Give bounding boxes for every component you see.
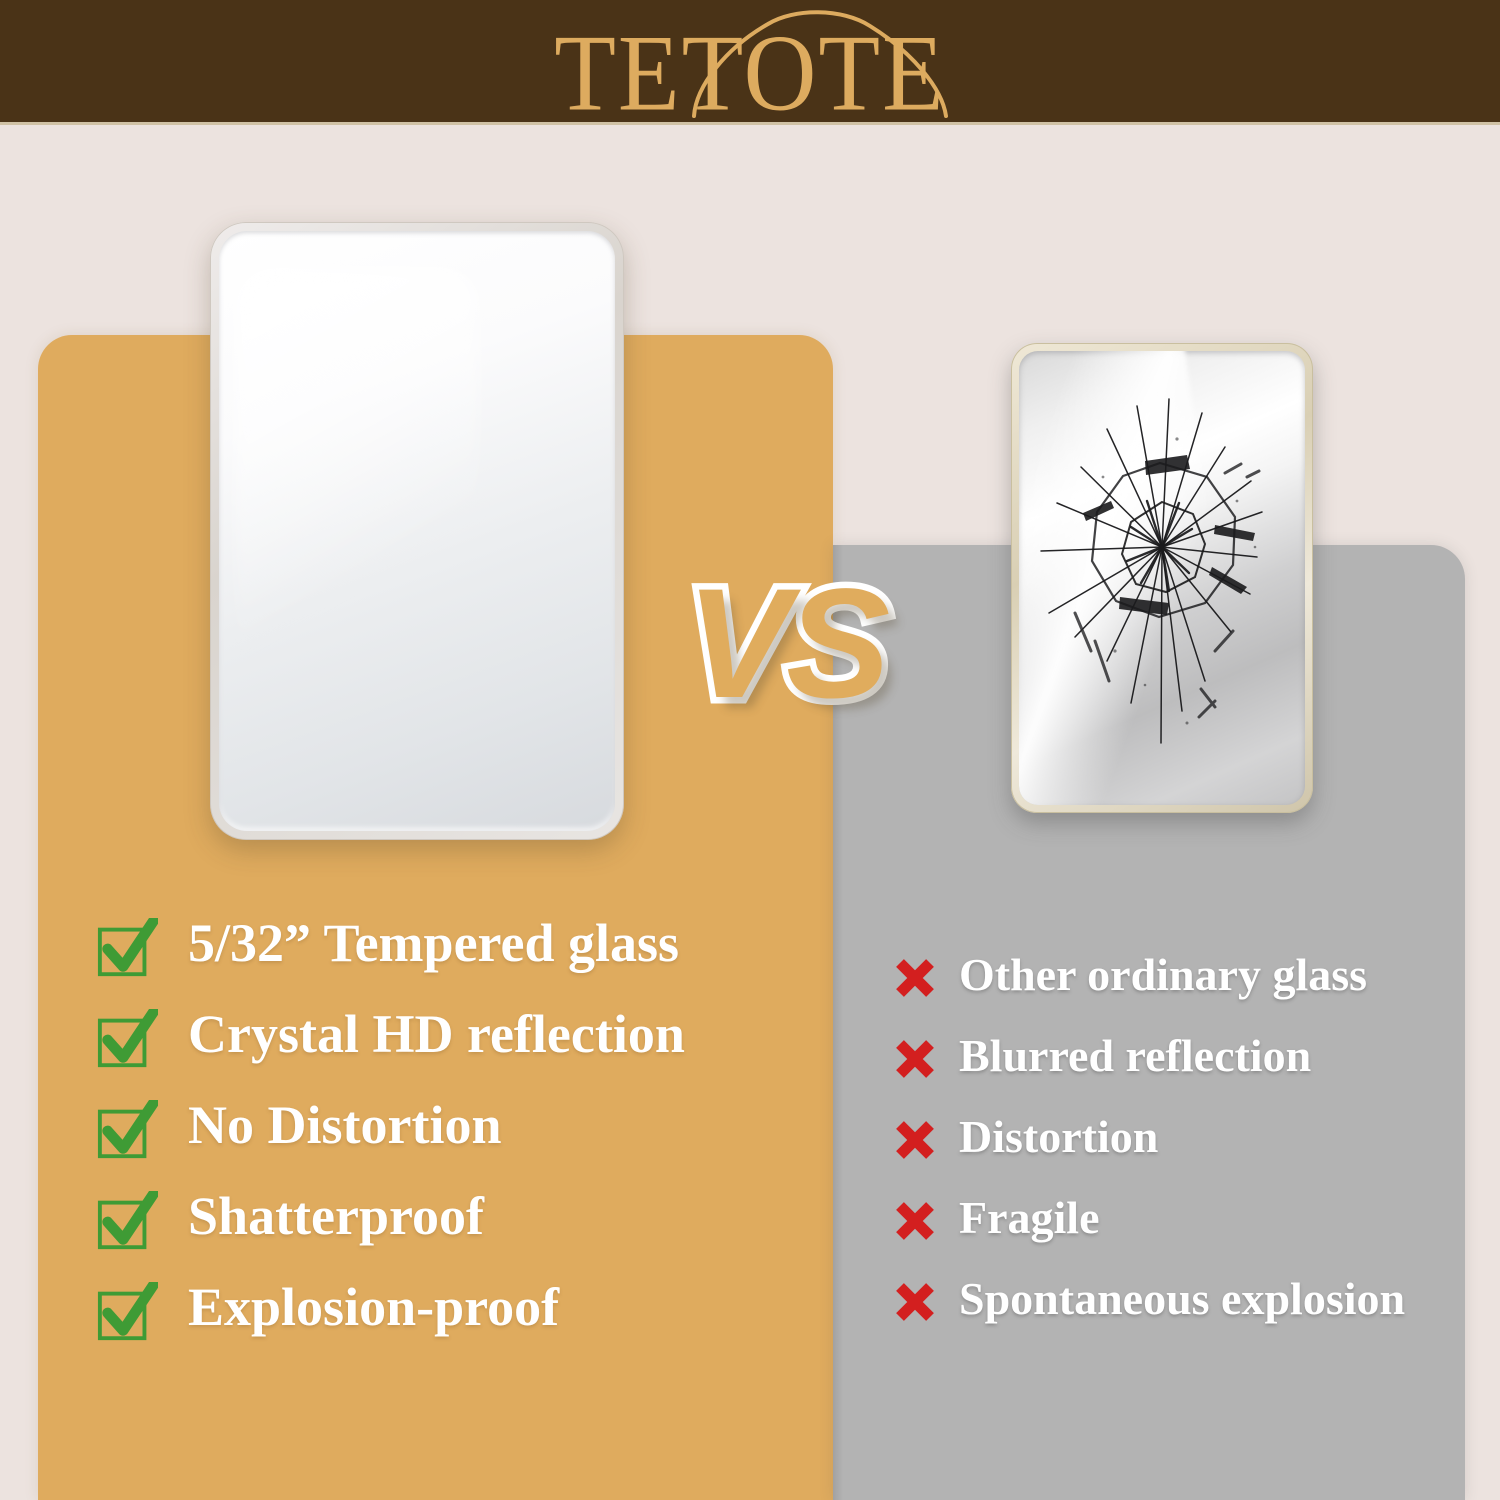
tempered-glass-feature-list: 5/32” Tempered glass Crystal HD reflecti… [96, 916, 816, 1371]
list-item: Shatterproof [96, 1189, 816, 1280]
infographic-canvas: TETOTE [0, 0, 1500, 1500]
green-checkbox-check-icon [96, 1009, 158, 1071]
brand-header-bar: TETOTE [0, 0, 1500, 125]
tempered-glass-mirror-image [210, 222, 624, 840]
brand-name: TETOTE [0, 19, 1500, 125]
red-x-cross-icon [893, 956, 937, 1000]
mirror-glass-surface [219, 231, 615, 831]
green-checkbox-check-icon [96, 918, 158, 980]
list-item: Crystal HD reflection [96, 1007, 816, 1098]
red-x-cross-icon [893, 1118, 937, 1162]
crack-pattern-icon [1019, 351, 1305, 805]
list-item-label: No Distortion [188, 1094, 501, 1156]
green-checkbox-check-icon [96, 1282, 158, 1344]
green-checkbox-check-icon [96, 1100, 158, 1162]
list-item: Spontaneous explosion [893, 1272, 1493, 1353]
list-item-label: Crystal HD reflection [188, 1003, 685, 1065]
red-x-cross-icon [893, 1037, 937, 1081]
green-checkbox-check-icon [96, 1191, 158, 1253]
brand-logo: TETOTE [0, 0, 1500, 125]
list-item-label: Distortion [959, 1110, 1158, 1164]
ordinary-glass-feature-list: Other ordinary glass Blurred reflection … [893, 948, 1493, 1353]
list-item: Distortion [893, 1110, 1493, 1191]
list-item-label: Shatterproof [188, 1185, 484, 1247]
list-item-label: Blurred reflection [959, 1029, 1311, 1083]
list-item: No Distortion [96, 1098, 816, 1189]
list-item-label: Other ordinary glass [959, 948, 1367, 1002]
list-item-label: Explosion-proof [188, 1276, 559, 1338]
cracked-mirror-glass-surface [1019, 351, 1305, 805]
list-item: Explosion-proof [96, 1280, 816, 1371]
list-item-label: Spontaneous explosion [959, 1272, 1405, 1326]
list-item-label: Fragile [959, 1191, 1100, 1245]
list-item: Other ordinary glass [893, 948, 1493, 1029]
list-item-label: 5/32” Tempered glass [188, 912, 679, 974]
red-x-cross-icon [893, 1280, 937, 1324]
red-x-cross-icon [893, 1199, 937, 1243]
versus-badge: VS [686, 566, 886, 722]
cracked-ordinary-glass-mirror-image [1011, 343, 1313, 813]
list-item: Blurred reflection [893, 1029, 1493, 1110]
list-item: Fragile [893, 1191, 1493, 1272]
list-item: 5/32” Tempered glass [96, 916, 816, 1007]
